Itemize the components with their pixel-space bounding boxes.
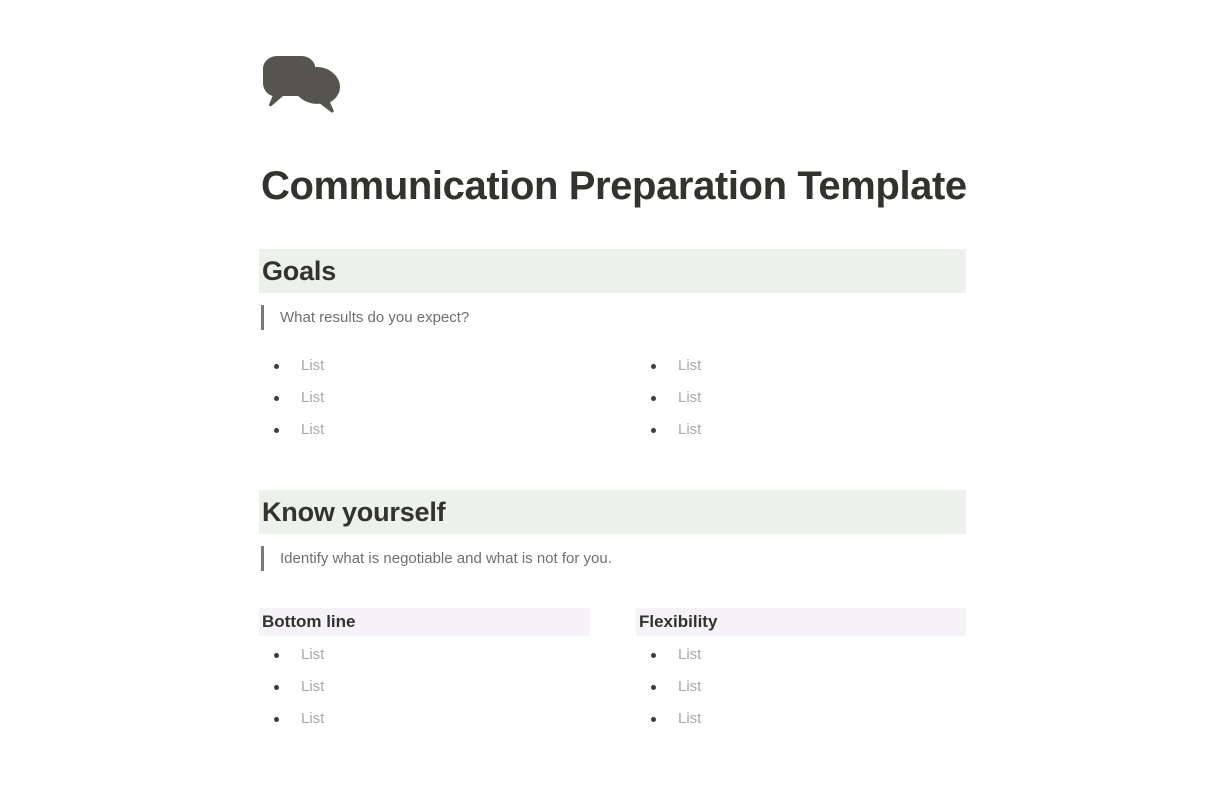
list-item-text: List	[301, 710, 324, 727]
list-item[interactable]: List	[636, 639, 966, 671]
list-item-text: List	[301, 389, 324, 406]
subsection-header-flexibility: Flexibility	[636, 608, 966, 636]
list-item[interactable]: List	[636, 414, 966, 446]
page-title: Communication Preparation Template	[261, 160, 967, 212]
section-quote-know-yourself: Identify what is negotiable and what is …	[261, 546, 612, 571]
list-item[interactable]: List	[259, 639, 590, 671]
bullet-dot	[651, 396, 656, 401]
list-item-text: List	[678, 710, 701, 727]
list-item[interactable]: List	[259, 414, 609, 446]
list-item-text: List	[301, 357, 324, 374]
speech-bubbles-glyph	[261, 55, 345, 113]
list-item-text: List	[678, 389, 701, 406]
list-item-text: List	[678, 646, 701, 663]
list-item-text: List	[678, 421, 701, 438]
section-heading-text: Know yourself	[259, 490, 966, 534]
subsection-heading-text: Flexibility	[636, 608, 966, 636]
bullet-dot	[651, 685, 656, 690]
list-item[interactable]: List	[636, 382, 966, 414]
section-header-know-yourself: Know yourself	[259, 490, 966, 534]
subsection-header-bottom-line: Bottom line	[259, 608, 590, 636]
section-heading-text: Goals	[259, 249, 966, 293]
list-item[interactable]: List	[259, 703, 590, 735]
quote-text: What results do you expect?	[264, 305, 469, 330]
bullet-dot	[651, 717, 656, 722]
list-item-text: List	[301, 678, 324, 695]
list-item[interactable]: List	[636, 350, 966, 382]
list-item[interactable]: List	[636, 703, 966, 735]
bullet-dot	[274, 653, 279, 658]
list-item[interactable]: List	[259, 350, 609, 382]
list-item-text: List	[678, 678, 701, 695]
bullet-dot	[651, 653, 656, 658]
section-quote-goals: What results do you expect?	[261, 305, 469, 330]
quote-text: Identify what is negotiable and what is …	[264, 546, 612, 571]
goals-list-left: List List List	[259, 350, 609, 446]
speech-bubbles-icon	[261, 55, 345, 113]
flexibility-list: List List List	[636, 639, 966, 735]
bullet-dot	[274, 396, 279, 401]
list-item-text: List	[678, 357, 701, 374]
list-item[interactable]: List	[259, 671, 590, 703]
bullet-dot	[274, 717, 279, 722]
bullet-dot	[274, 428, 279, 433]
list-item-text: List	[301, 421, 324, 438]
section-header-goals: Goals	[259, 249, 966, 293]
bullet-dot	[274, 364, 279, 369]
list-item-text: List	[301, 646, 324, 663]
subsection-heading-text: Bottom line	[259, 608, 590, 636]
goals-list-right: List List List	[636, 350, 966, 446]
bullet-dot	[274, 685, 279, 690]
bullet-dot	[651, 364, 656, 369]
bubble-right-shape	[294, 67, 340, 113]
bullet-dot	[651, 428, 656, 433]
list-item[interactable]: List	[259, 382, 609, 414]
bottom-line-list: List List List	[259, 639, 590, 735]
list-item[interactable]: List	[636, 671, 966, 703]
